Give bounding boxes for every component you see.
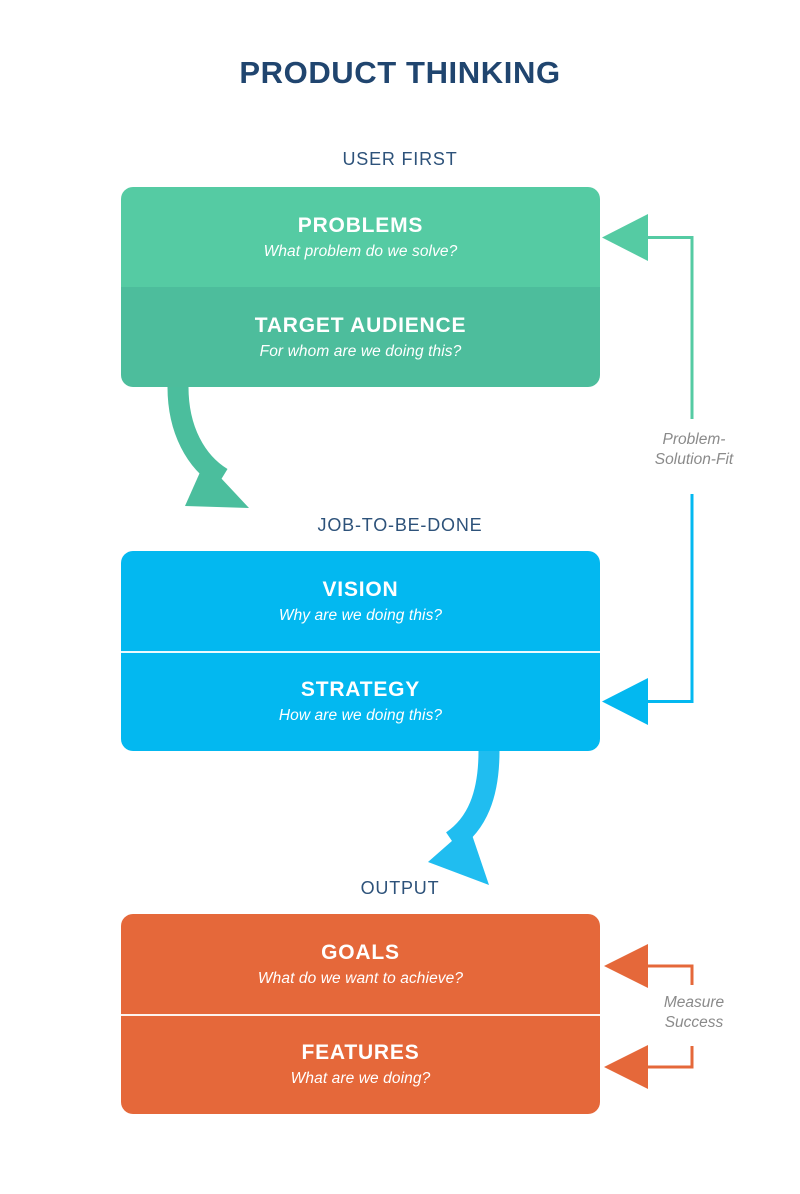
loop-label-problem-solution-fit-line2: Solution-Fit (614, 450, 774, 470)
card-target-audience[interactable]: TARGET AUDIENCE For whom are we doing th… (121, 287, 600, 387)
loop-label-measure-success: Measure Success (614, 993, 774, 1034)
card-goals-title: GOALS (321, 940, 400, 966)
card-vision-subtitle: Why are we doing this? (279, 607, 442, 625)
card-strategy-title: STRATEGY (301, 677, 420, 703)
flow-arrow-green-to-blue (178, 387, 249, 508)
section-label-job-to-be-done: JOB-TO-BE-DONE (0, 515, 800, 536)
loop-label-problem-solution-fit: Problem- Solution-Fit (614, 430, 774, 471)
card-vision[interactable]: VISION Why are we doing this? (121, 551, 600, 651)
card-problems-subtitle: What problem do we solve? (264, 243, 458, 261)
loop-arrow-problem-solution-fit-green (602, 214, 692, 419)
group-box-user-first: PROBLEMS What problem do we solve? TARGE… (121, 187, 600, 387)
loop-arrow-measure-success-goals (604, 944, 692, 988)
card-goals[interactable]: GOALS What do we want to achieve? (121, 914, 600, 1014)
section-label-output: OUTPUT (0, 878, 800, 899)
card-strategy[interactable]: STRATEGY How are we doing this? (121, 651, 600, 751)
card-problems-title: PROBLEMS (298, 213, 423, 239)
card-strategy-subtitle: How are we doing this? (279, 707, 442, 725)
group-box-output: GOALS What do we want to achieve? FEATUR… (121, 914, 600, 1114)
card-features-subtitle: What are we doing? (291, 1070, 431, 1088)
loop-label-problem-solution-fit-line1: Problem- (614, 430, 774, 450)
loop-label-measure-success-line2: Success (614, 1013, 774, 1033)
card-features[interactable]: FEATURES What are we doing? (121, 1014, 600, 1114)
flow-arrow-blue-to-orange (428, 751, 489, 885)
page-title: PRODUCT THINKING (0, 55, 800, 91)
loop-label-measure-success-line1: Measure (614, 993, 774, 1013)
card-features-title: FEATURES (301, 1040, 419, 1066)
card-vision-title: VISION (323, 577, 399, 603)
group-box-job-to-be-done: VISION Why are we doing this? STRATEGY H… (121, 551, 600, 751)
card-problems[interactable]: PROBLEMS What problem do we solve? (121, 187, 600, 287)
card-goals-subtitle: What do we want to achieve? (258, 970, 463, 988)
card-target-audience-subtitle: For whom are we doing this? (260, 343, 462, 361)
section-label-user-first: USER FIRST (0, 149, 800, 170)
card-target-audience-title: TARGET AUDIENCE (255, 313, 467, 339)
loop-arrow-measure-success-features (604, 1045, 692, 1089)
